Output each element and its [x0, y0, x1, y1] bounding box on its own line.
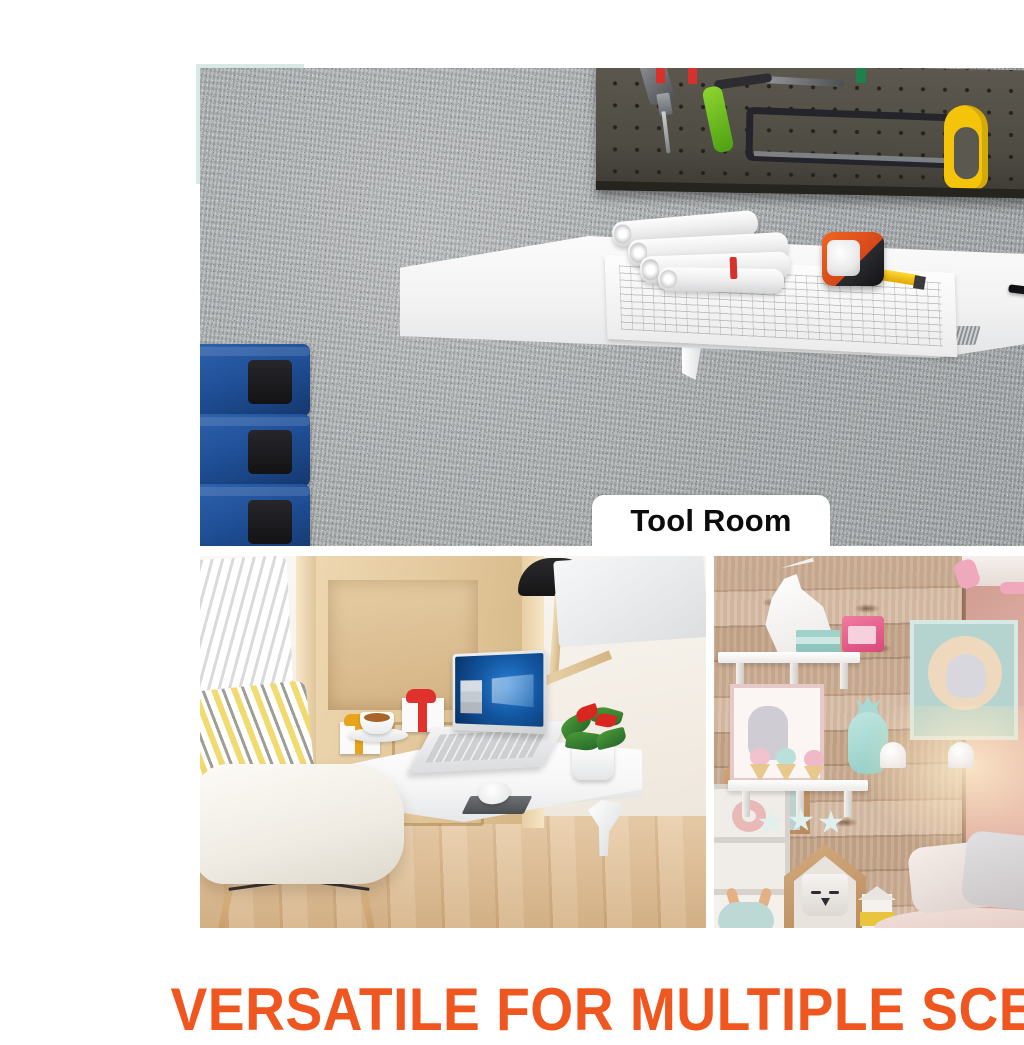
blueprint-band	[730, 257, 738, 279]
poster-bunny-figure	[946, 654, 986, 698]
panel-tool-room: Tool Room	[200, 68, 1024, 546]
ice-cream-scoop	[750, 748, 770, 766]
wall-sconce	[880, 742, 906, 768]
wall-shelf-upper	[718, 652, 860, 663]
coffee-surface	[364, 713, 390, 722]
wall-shelf-lower	[728, 780, 868, 791]
toolbox-bottom	[200, 484, 310, 546]
toolbox-latch	[248, 360, 292, 404]
headline-banner: VERSATILE FOR MULTIPLE SCENARIOS	[241, 973, 1024, 1045]
wood-knot	[854, 604, 880, 613]
pillow	[960, 830, 1024, 912]
caption-tool-room-label: Tool Room	[630, 503, 791, 539]
ice-cream-cone-decor	[750, 748, 772, 782]
cat-nose	[821, 898, 830, 906]
headline-text: VERSATILE FOR MULTIPLE SCENARIOS	[171, 975, 1024, 1044]
spray-gun-icon	[701, 85, 734, 154]
ice-cream-scoop	[776, 748, 796, 766]
books	[796, 630, 840, 652]
laptop-screen	[453, 650, 547, 735]
shelf-bracket	[844, 791, 852, 817]
green-handle-icon	[856, 68, 866, 83]
ice-cream-cone-decor	[776, 748, 798, 782]
pegboard	[596, 68, 1024, 202]
red-handle-2-icon	[688, 68, 697, 84]
cat-eye	[829, 891, 839, 894]
blueprint-roll	[658, 267, 784, 293]
toolbox-stack	[200, 344, 310, 546]
toolbox-middle	[200, 414, 310, 486]
throw-blanket	[200, 556, 294, 701]
windows-logo-icon	[492, 674, 534, 708]
shelf-bracket	[742, 791, 750, 817]
tape-measure-face	[827, 240, 860, 276]
bunny-toy	[718, 902, 774, 928]
tape-measure-hook	[913, 275, 926, 290]
eames-chair	[200, 764, 404, 884]
caption-tool-room: Tool Room	[592, 495, 830, 546]
cat-eye	[811, 891, 821, 894]
spray-nozzle-icon	[714, 73, 773, 90]
tablet-screen	[553, 556, 706, 647]
toolbox-top	[200, 344, 310, 416]
panel-children-room: Children's Room	[714, 556, 1024, 928]
panel-bedroom: Bedroom	[200, 556, 706, 928]
toolbox-latch	[248, 430, 292, 474]
cat-jar	[802, 874, 848, 916]
ice-cream-scoop	[804, 750, 824, 768]
red-handle-icon	[656, 68, 665, 83]
drill-bit-icon	[661, 111, 670, 153]
toy-radio-face	[848, 626, 876, 644]
wall-sconce	[948, 742, 974, 768]
ice-cream-cone-decor	[804, 750, 826, 784]
start-menu-tiles	[461, 680, 483, 713]
laptop-wallpaper	[455, 653, 543, 727]
toy-detail-pink	[1000, 582, 1024, 594]
toolbox-latch	[248, 500, 292, 544]
hacksaw-grip-inner-icon	[954, 127, 979, 179]
gift-bow-red	[406, 689, 436, 703]
box-shelf	[714, 838, 790, 894]
product-poster: Tool Room	[196, 64, 304, 184]
shelf-bracket	[840, 663, 848, 689]
